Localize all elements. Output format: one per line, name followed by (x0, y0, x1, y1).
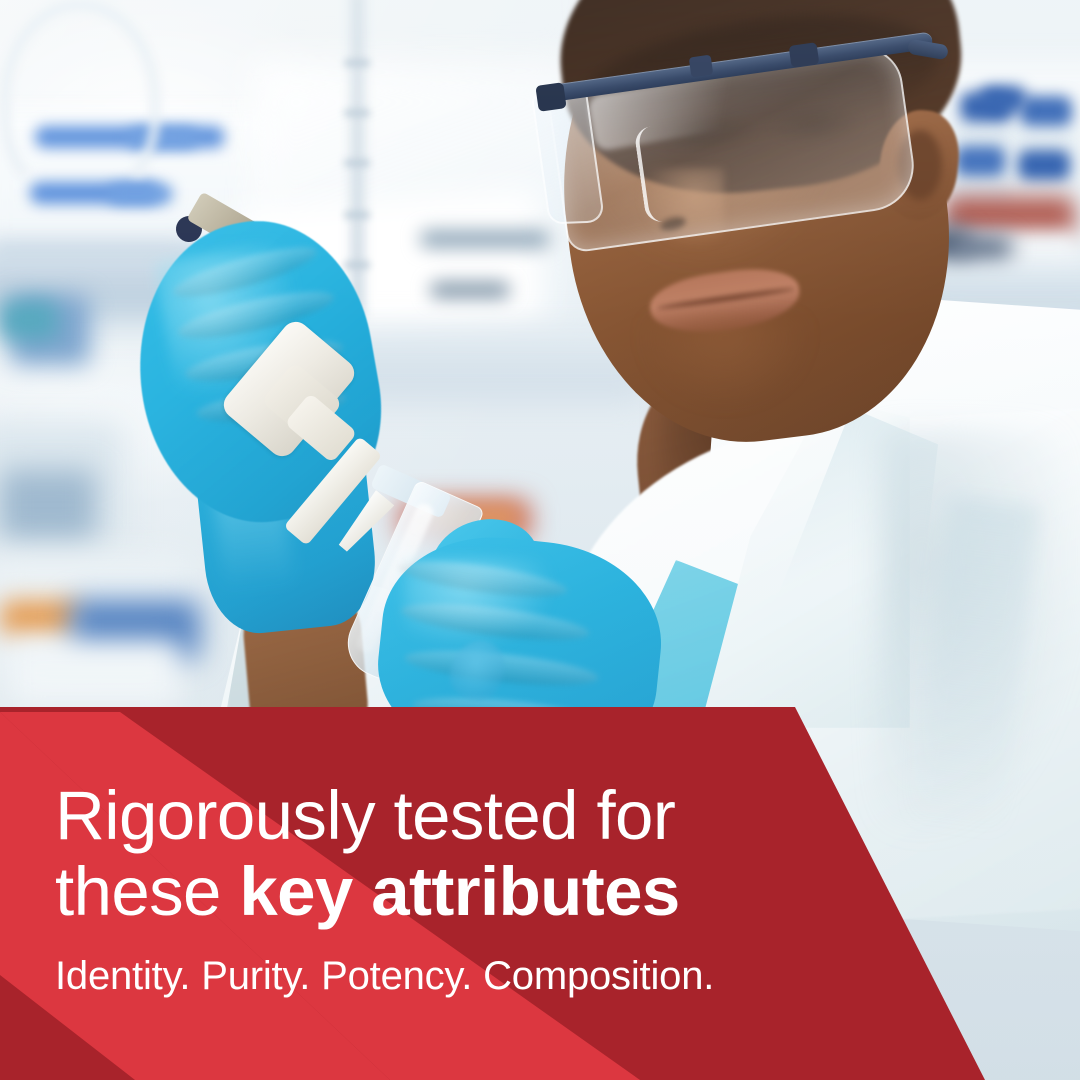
promo-banner-image: Rigorously tested for these key attribut… (0, 0, 1080, 1080)
rod-tick-1 (344, 60, 370, 66)
rod-tick-2 (344, 110, 370, 116)
subline-attributes: Identity. Purity. Potency. Composition. (55, 952, 955, 1000)
bottle-cap-blue-5 (980, 86, 1026, 112)
chin (640, 318, 810, 408)
goggles-hinge-1 (789, 42, 820, 68)
goggles-end-cap (535, 82, 566, 112)
bottle-cap-blue-3 (955, 146, 1005, 176)
goggles-hinge-2 (689, 55, 714, 78)
rod-tick-3 (344, 160, 370, 166)
center-shelf-1 (420, 230, 550, 248)
center-shelf-2 (430, 282, 510, 298)
banner-text-block: Rigorously tested for these key attribut… (55, 778, 955, 1000)
lower-left-white-box (10, 640, 180, 706)
coiled-tubing (0, 0, 160, 200)
lower-left-orange-box (0, 600, 80, 636)
rod-tick-5 (344, 262, 370, 268)
headline-line-1: Rigorously tested for (55, 778, 955, 854)
bottle-cap-blue-2 (1020, 96, 1072, 126)
headline-line-2-bold: key attributes (239, 853, 679, 930)
headline-line-2: these key attributes (55, 854, 955, 930)
storage-box-cyan (0, 300, 58, 340)
bottle-cap-blue-4 (1018, 150, 1070, 180)
right-dark-instrument-2 (952, 236, 1012, 262)
headline-line-2-regular: these (55, 853, 239, 930)
lower-left-equipment-2 (0, 470, 96, 540)
rod-tick-4 (344, 212, 370, 218)
